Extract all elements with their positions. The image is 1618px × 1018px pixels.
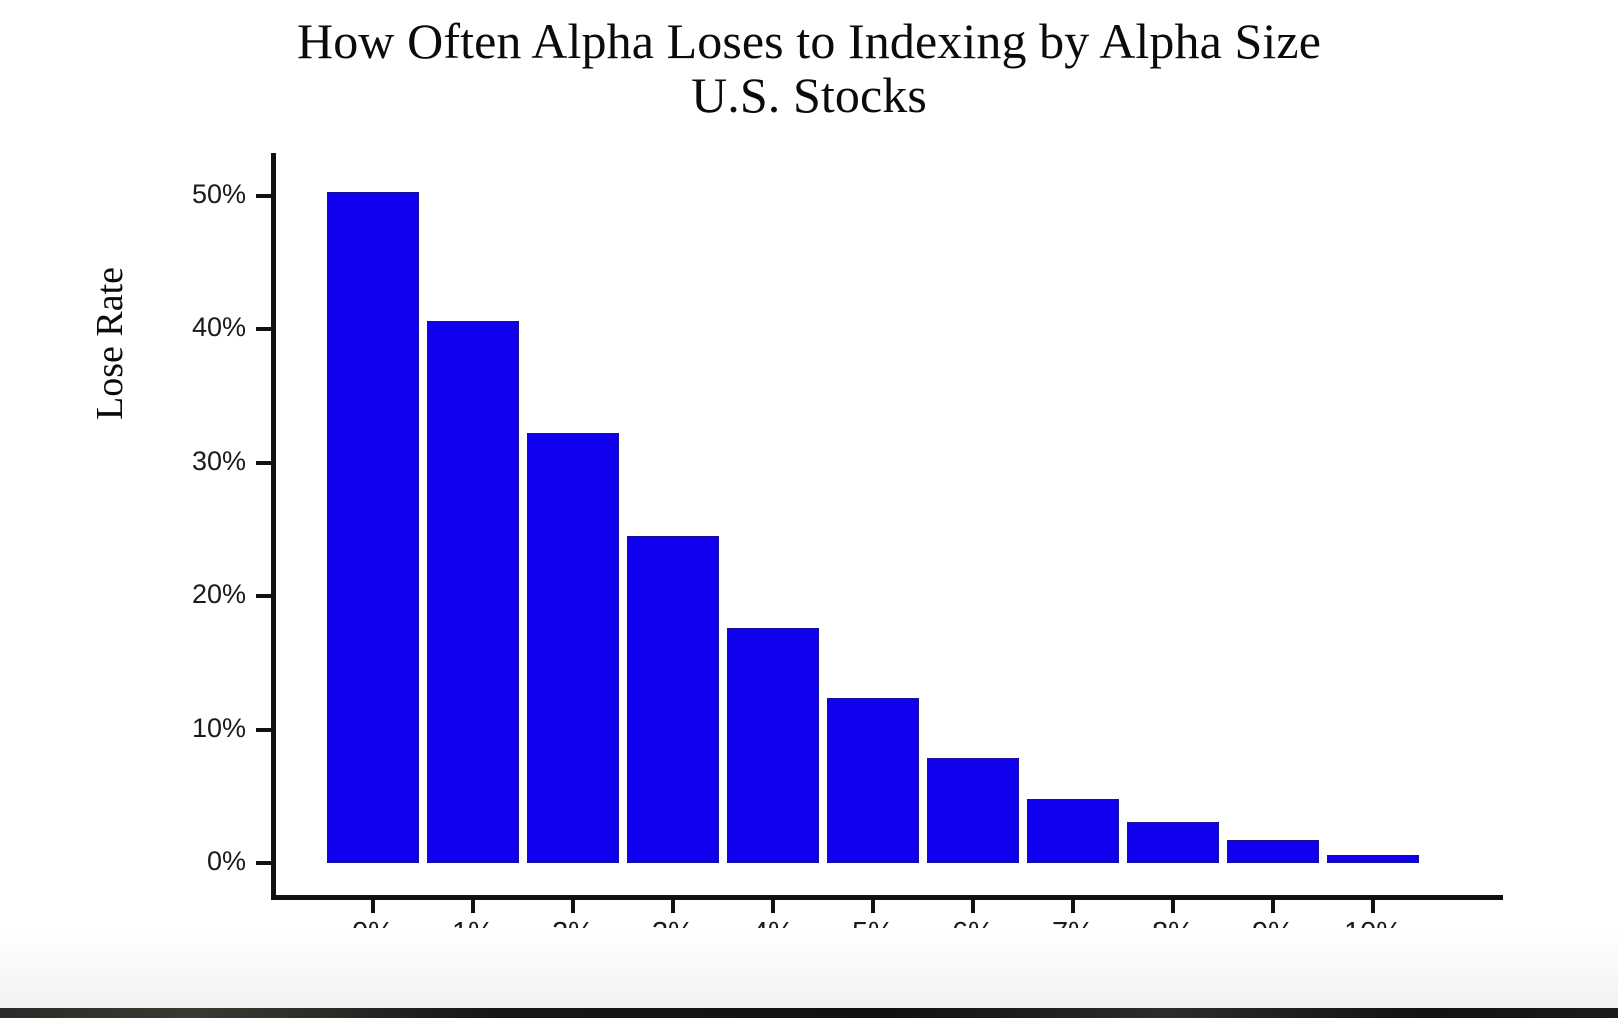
y-tick-label: 10% — [126, 713, 246, 744]
y-tick-label: 40% — [126, 312, 246, 343]
x-tick — [771, 896, 775, 913]
x-tick — [1271, 896, 1275, 913]
y-tick-label: 30% — [126, 446, 246, 477]
x-tick — [571, 896, 575, 913]
x-tick — [671, 896, 675, 913]
x-tick — [371, 896, 375, 913]
x-tick — [971, 896, 975, 913]
y-tick-40pct — [256, 327, 272, 331]
y-tick-30pct — [256, 461, 272, 465]
bar-8pct — [1127, 822, 1219, 863]
y-tick-label: 50% — [126, 179, 246, 210]
bar-3pct — [627, 536, 719, 863]
bar-5pct — [827, 698, 919, 863]
viewer-bottom-strip — [0, 1008, 1618, 1018]
bar-2pct — [527, 433, 619, 863]
bar-10pct — [1327, 855, 1419, 863]
y-tick-label: 20% — [126, 579, 246, 610]
y-tick-50pct — [256, 194, 272, 198]
y-tick-label: 0% — [126, 846, 246, 877]
x-tick — [1171, 896, 1175, 913]
bar-7pct — [1027, 799, 1119, 863]
bar-9pct — [1227, 840, 1319, 863]
plot-area: 0%10%20%30%40%50% 0%1%2%3%4%5%6%7%8%9%10… — [0, 0, 1618, 1018]
x-axis-title: Annualized Alpha — [0, 938, 1618, 982]
bar-4pct — [727, 628, 819, 863]
y-tick-0pct — [256, 861, 272, 865]
x-tick — [871, 896, 875, 913]
bar-0pct — [327, 192, 419, 863]
y-tick-20pct — [256, 594, 272, 598]
chart-figure: How Often Alpha Loses to Indexing by Alp… — [0, 0, 1618, 1018]
y-axis-line — [271, 153, 276, 900]
bar-1pct — [427, 321, 519, 863]
x-tick — [471, 896, 475, 913]
x-tick — [1371, 896, 1375, 913]
x-axis-line — [271, 895, 1503, 900]
y-axis-title: Lose Rate — [88, 267, 132, 420]
y-tick-10pct — [256, 728, 272, 732]
x-tick — [1071, 896, 1075, 913]
bar-6pct — [927, 758, 1019, 863]
